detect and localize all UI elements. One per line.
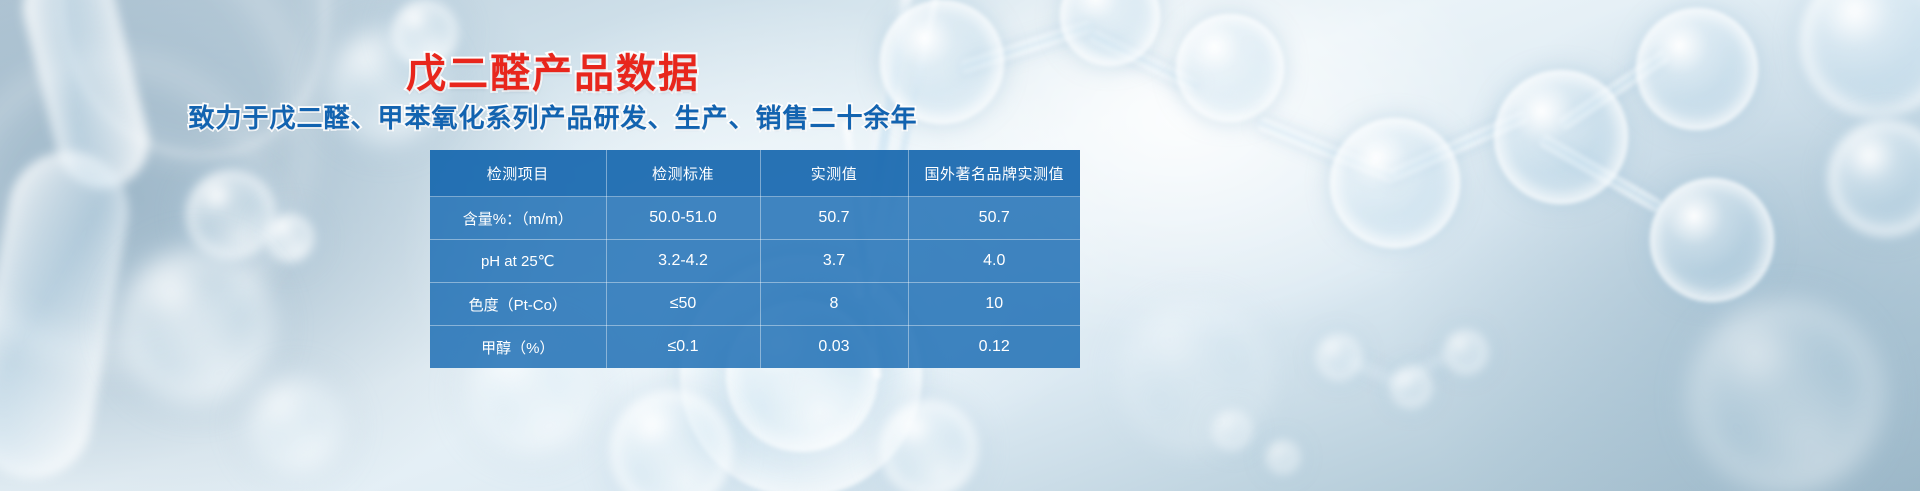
decorative-bubble <box>610 390 732 491</box>
cell-measured-value: 0.03 <box>760 326 908 369</box>
decorative-bubble <box>250 380 342 472</box>
table-row: pH at 25℃ 3.2-4.2 3.7 4.0 <box>430 240 1080 283</box>
column-header-test-item: 检测项目 <box>430 150 606 197</box>
molecule-node <box>1828 120 1920 236</box>
table-row: 甲醇（%） ≤0.1 0.03 0.12 <box>430 326 1080 369</box>
molecule-node <box>1316 334 1362 380</box>
decorative-bubble <box>186 170 276 260</box>
cell-measured-value: 50.7 <box>760 197 908 240</box>
molecule-node <box>1212 410 1252 450</box>
cell-test-item: pH at 25℃ <box>430 240 606 283</box>
product-data-table: 检测项目 检测标准 实测值 国外著名品牌实测值 含量%：（m/m） 50.0-5… <box>430 150 1080 368</box>
table-row: 含量%：（m/m） 50.0-51.0 50.7 50.7 <box>430 197 1080 240</box>
decorative-bubble <box>880 400 978 491</box>
molecule-bond <box>1345 356 1403 387</box>
cell-measured-value: 8 <box>760 283 908 326</box>
molecule-node <box>1266 440 1300 474</box>
molecule-node <box>1800 0 1920 118</box>
cell-test-item: 含量%：（m/m） <box>430 197 606 240</box>
molecule-bond <box>1537 133 1665 214</box>
decorative-bubble <box>1120 300 1272 452</box>
cell-foreign-brand-value: 50.7 <box>908 197 1080 240</box>
decorative-bubble <box>1690 300 1882 491</box>
cell-test-standard: 50.0-51.0 <box>606 197 760 240</box>
cell-test-standard: ≤0.1 <box>606 326 760 369</box>
cell-foreign-brand-value: 4.0 <box>908 240 1080 283</box>
page-subtitle: 致力于戊二醛、甲苯氧化系列产品研发、生产、销售二十余年 <box>0 104 1513 133</box>
molecule-node <box>1390 366 1432 408</box>
molecule-bond <box>1556 48 1671 131</box>
molecule-node <box>1650 178 1774 302</box>
product-data-table-wrapper: 检测项目 检测标准 实测值 国外著名品牌实测值 含量%：（m/m） 50.0-5… <box>430 150 1080 368</box>
table-header-row: 检测项目 检测标准 实测值 国外著名品牌实测值 <box>430 150 1080 197</box>
molecule-bond <box>1396 352 1448 386</box>
decorative-bubble <box>266 214 314 262</box>
product-data-banner: 戊二醛产品数据 致力于戊二醛、甲苯氧化系列产品研发、生产、销售二十余年 检测项目… <box>0 0 1920 491</box>
column-header-measured-value: 实测值 <box>760 150 908 197</box>
cell-foreign-brand-value: 10 <box>908 283 1080 326</box>
cell-foreign-brand-value: 0.12 <box>908 326 1080 369</box>
page-subtitle-text: 致力于戊二醛、甲苯氧化系列产品研发、生产、销售二十余年 <box>188 103 917 133</box>
decorative-glass-tube <box>14 0 159 198</box>
molecule-node <box>1444 330 1488 374</box>
molecule-node <box>1494 70 1628 204</box>
molecule-node <box>1330 118 1460 248</box>
cell-test-item: 色度（Pt-Co） <box>430 283 606 326</box>
cell-test-standard: 3.2-4.2 <box>606 240 760 283</box>
cell-measured-value: 3.7 <box>760 240 908 283</box>
molecule-node <box>1636 8 1758 130</box>
column-header-test-standard: 检测标准 <box>606 150 760 197</box>
decorative-glass-tube <box>0 142 138 488</box>
decorative-bubble <box>120 250 272 402</box>
table-row: 色度（Pt-Co） ≤50 8 10 <box>430 283 1080 326</box>
cell-test-standard: ≤50 <box>606 283 760 326</box>
page-title-text: 戊二醛产品数据 <box>406 52 700 96</box>
page-title: 戊二醛产品数据 <box>0 52 1513 96</box>
column-header-foreign-brand-measured-value: 国外著名品牌实测值 <box>908 150 1080 197</box>
cell-test-item: 甲醇（%） <box>430 326 606 369</box>
